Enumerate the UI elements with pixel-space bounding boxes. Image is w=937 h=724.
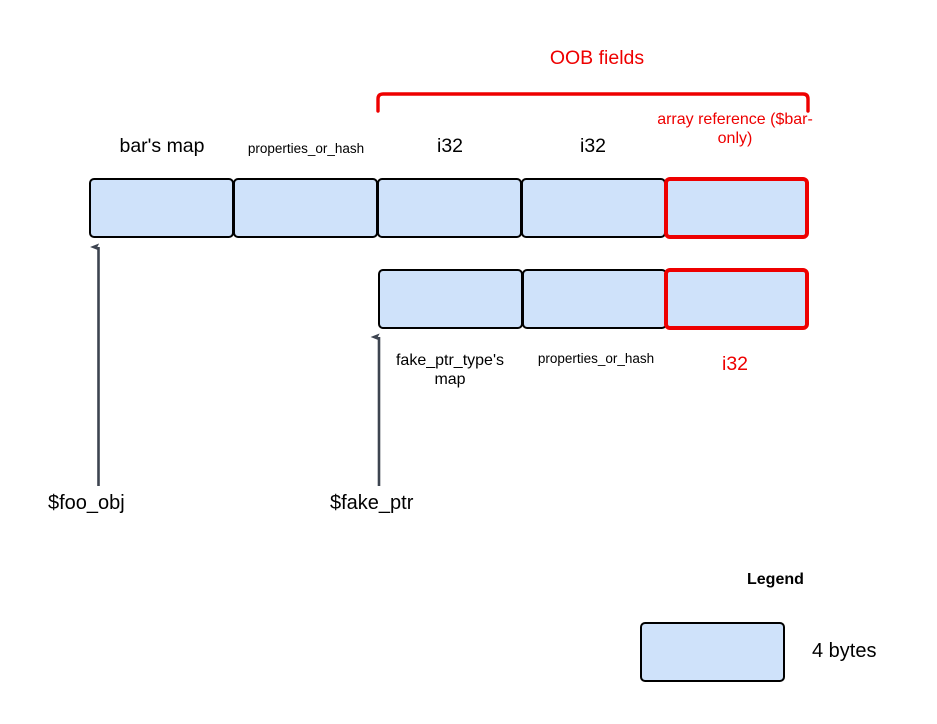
legend-title: Legend	[747, 571, 804, 590]
row1-cell-1	[233, 178, 378, 238]
legend-swatch-label: 4 bytes	[812, 640, 876, 664]
row1-cell-3	[521, 178, 666, 238]
oob-fields-label: OOB fields	[550, 47, 644, 70]
legend-swatch	[640, 622, 785, 682]
pointer-label-foo-obj: $foo_obj	[48, 492, 125, 516]
row1-cell-0	[89, 178, 234, 238]
pointer-label-fake-ptr: $fake_ptr	[330, 492, 413, 516]
row1-cell-0-label: bar's map	[119, 135, 204, 158]
row2-cell-0	[378, 269, 523, 329]
row2-cell-1	[522, 269, 667, 329]
diagram-canvas: OOB fields bar's map properties_or_hash …	[0, 0, 937, 724]
row2-cell-2-label: i32	[722, 353, 748, 376]
oob-bracket	[378, 94, 808, 111]
row1-cell-2-label: i32	[437, 135, 463, 158]
row1-cell-1-label: properties_or_hash	[248, 141, 364, 157]
row1-cell-4-label: array reference ($bar-only)	[640, 111, 830, 149]
row1-cell-4-oob	[664, 177, 809, 239]
row2-cell-1-label: properties_or_hash	[538, 351, 654, 367]
row1-cell-3-label: i32	[580, 135, 606, 158]
row2-cell-2-oob	[664, 268, 809, 330]
row2-cell-0-label: fake_ptr_type's map	[380, 352, 520, 390]
row1-cell-2	[377, 178, 522, 238]
